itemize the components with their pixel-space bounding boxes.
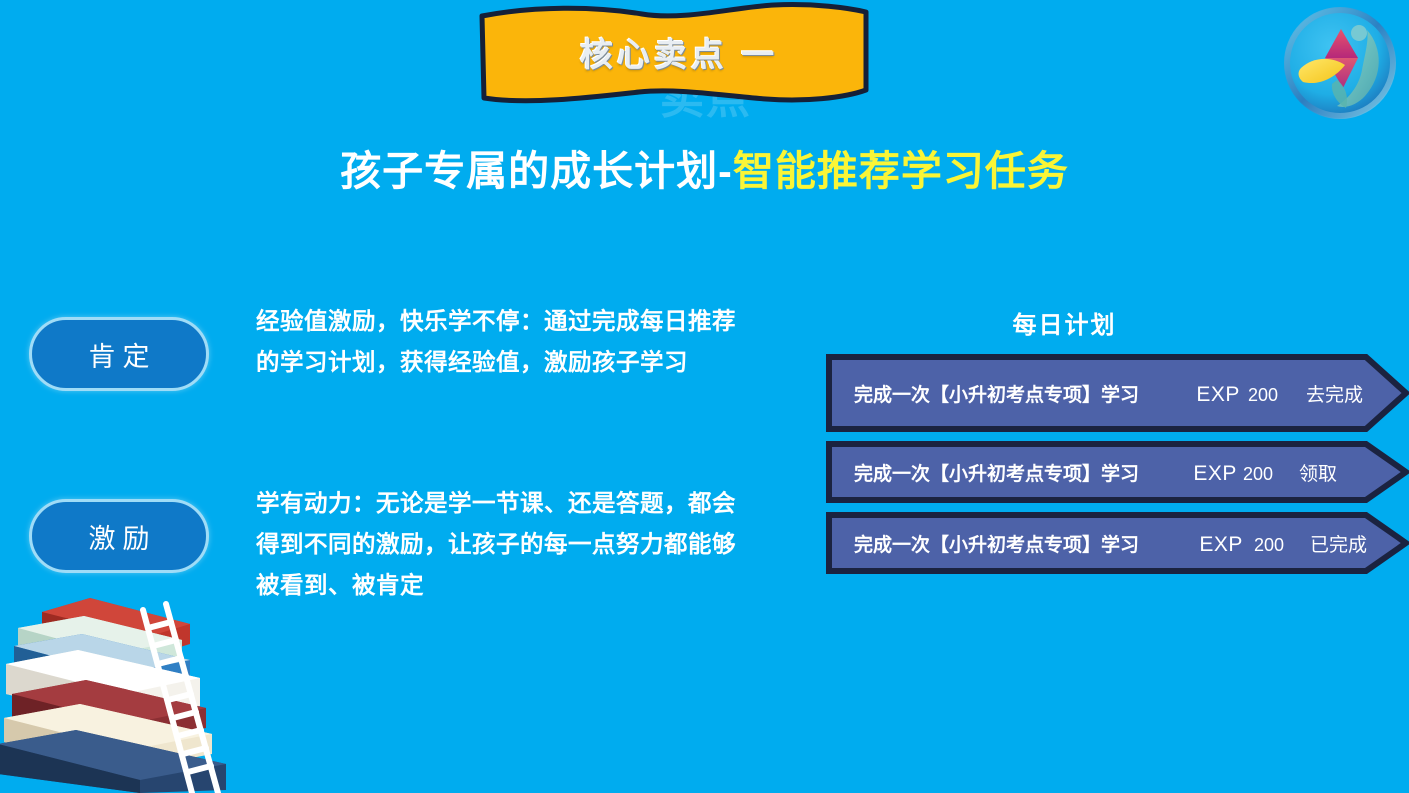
pill-motivation-label: 激励 bbox=[82, 517, 157, 556]
page-title-yellow: 智能推荐学习任务 bbox=[733, 148, 1069, 194]
pill-motivation[interactable]: 激励 bbox=[29, 499, 209, 573]
task-row[interactable]: 完成一次【小升初考点专项】学习 EXP 200 已完成 bbox=[826, 512, 1409, 574]
task-row[interactable]: 完成一次【小升初考点专项】学习 EXP 200 领取 bbox=[826, 441, 1409, 503]
body-paragraph-2: 学有动力：无论是学一节课、还是答题，都会得到不同的激励，让孩子的每一点努力都能够… bbox=[256, 483, 738, 606]
brand-globe-logo bbox=[1279, 2, 1401, 124]
task-row[interactable]: 完成一次【小升初考点专项】学习 EXP 200 去完成 bbox=[826, 354, 1409, 432]
stack-of-books-with-ladder-icon bbox=[0, 578, 284, 793]
slide-canvas: 卖点 核心卖点 一 bbox=[0, 0, 1409, 793]
pill-affirmation[interactable]: 肯定 bbox=[29, 317, 209, 391]
body-paragraph-1: 经验值激励，快乐学不停：通过完成每日推荐的学习计划，获得经验值，激励孩子学习 bbox=[256, 301, 738, 383]
pill-affirmation-label: 肯定 bbox=[82, 335, 157, 374]
daily-plan-task-list: 完成一次【小升初考点专项】学习 EXP 200 去完成 完成一次【小升初考点专项… bbox=[826, 354, 1409, 583]
section-ribbon-banner: 核心卖点 一 bbox=[474, 2, 874, 110]
page-title: 孩子专属的成长计划-智能推荐学习任务 bbox=[0, 137, 1409, 197]
page-title-white: 孩子专属的成长计划- bbox=[340, 148, 733, 194]
daily-plan-heading: 每日计划 bbox=[827, 305, 1302, 340]
